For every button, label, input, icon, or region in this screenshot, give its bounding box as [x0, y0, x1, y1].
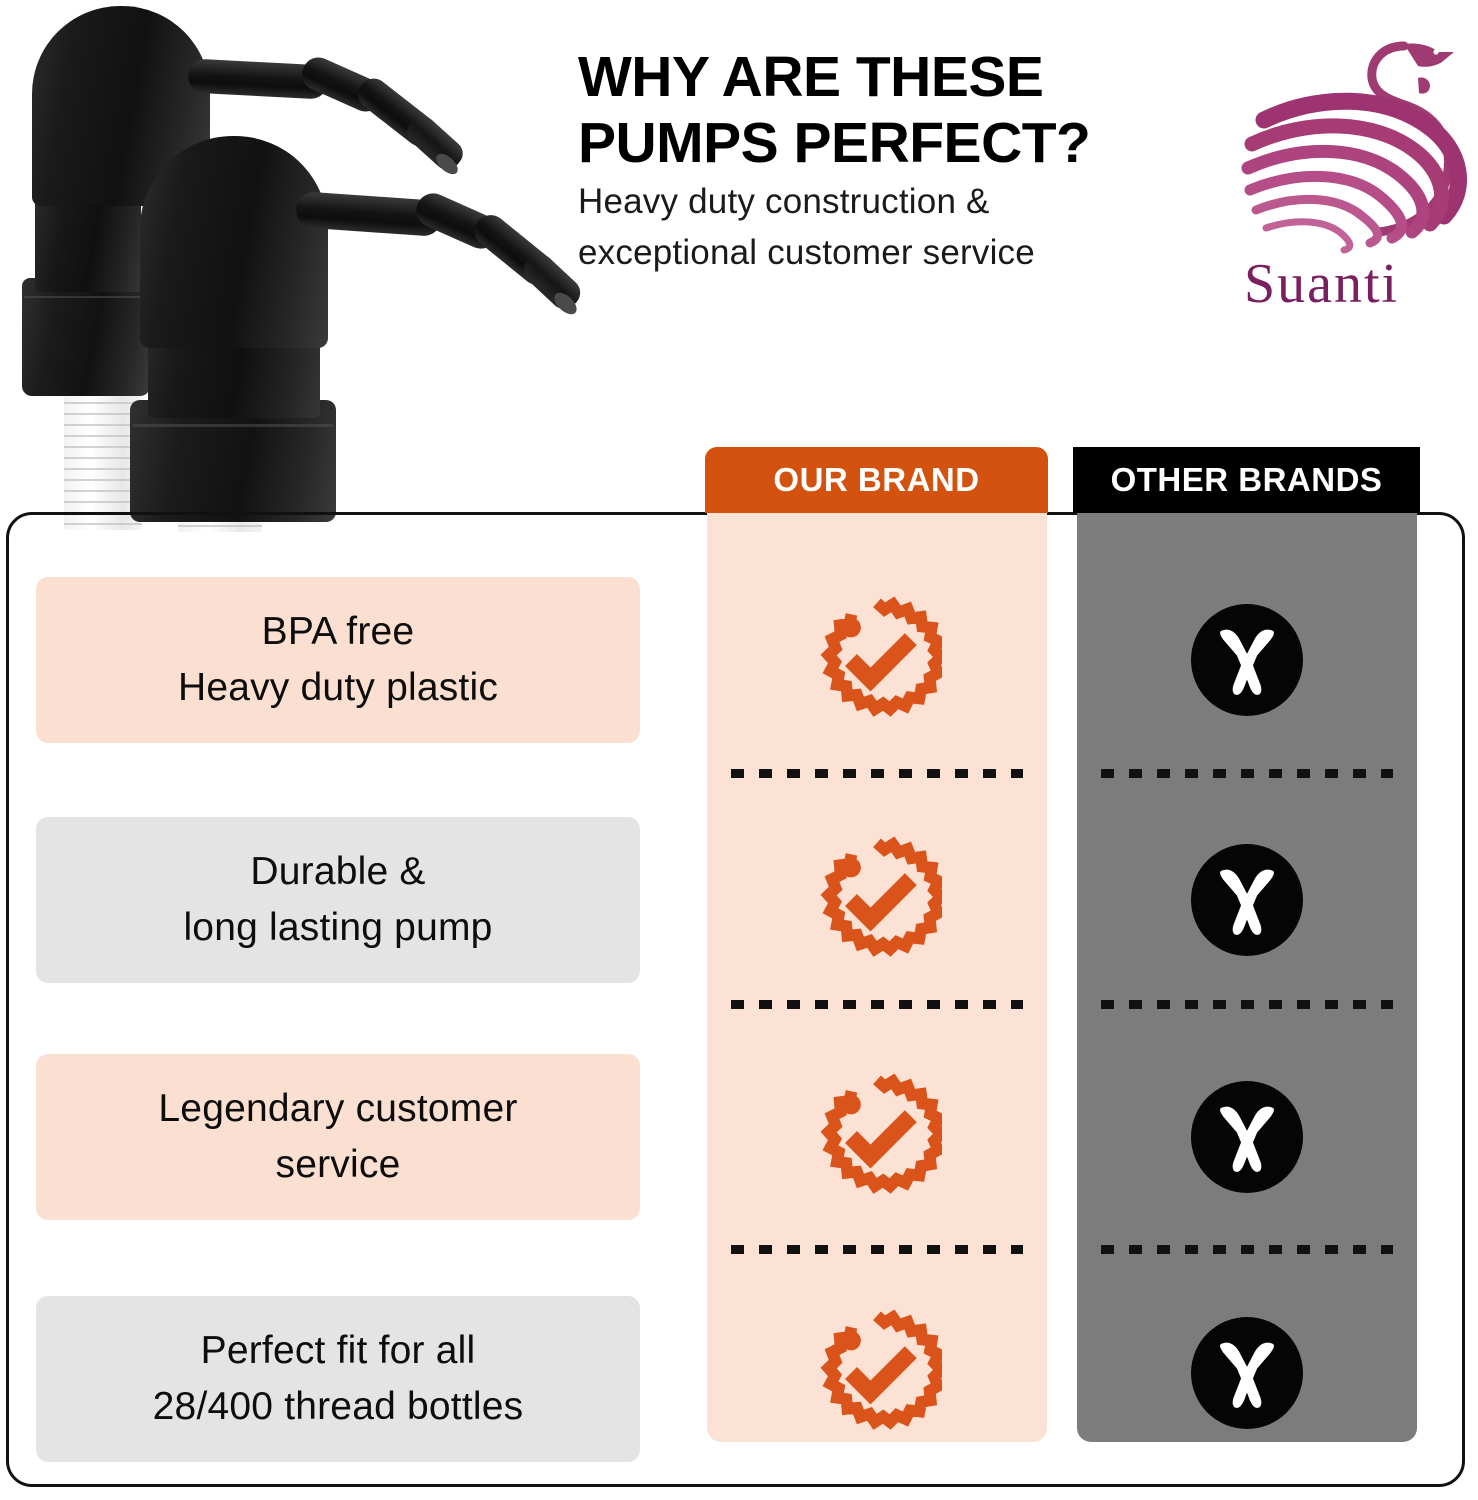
- cell-other-brands-row-1: [1077, 577, 1417, 743]
- column-header-other-brands-label: OTHER BRANDS: [1111, 461, 1383, 499]
- cross-badge-icon: [1191, 1317, 1303, 1429]
- row-separator-1-our-brand: [731, 769, 1023, 778]
- check-badge-icon: [812, 1308, 942, 1438]
- feature-pill-2-line-2: long lasting pump: [183, 900, 492, 956]
- pump-back-spout-tip: [402, 111, 468, 175]
- row-separator-1-other-brands: [1101, 769, 1393, 778]
- headline-block: WHY ARE THESE PUMPS PERFECT? Heavy duty …: [578, 44, 1238, 278]
- feature-pill-4: Perfect fit for all 28/400 thread bottle…: [36, 1296, 640, 1462]
- feature-pill-1: BPA free Heavy duty plastic: [36, 577, 640, 743]
- feature-pill-4-line-1: Perfect fit for all: [201, 1323, 476, 1379]
- product-photo-soap-pumps: [0, 0, 580, 530]
- collar-ring: [133, 424, 333, 427]
- feature-pill-3-line-2: service: [276, 1137, 401, 1193]
- feature-pill-2-line-1: Durable &: [250, 844, 425, 900]
- column-header-our-brand-label: OUR BRAND: [773, 461, 979, 499]
- cell-other-brands-row-4: [1077, 1290, 1417, 1456]
- cell-our-brand-row-4: [707, 1290, 1047, 1456]
- headline-line-1: WHY ARE THESE: [578, 44, 1238, 110]
- x-mark-icon: [1191, 1081, 1303, 1193]
- feature-pill-4-line-2: 28/400 thread bottles: [153, 1379, 524, 1435]
- collar-ring: [24, 296, 148, 298]
- subheadline-line-2: exceptional customer service: [578, 227, 1238, 278]
- pump-front-dome: [140, 136, 328, 348]
- cell-other-brands-row-2: [1077, 817, 1417, 983]
- cell-our-brand-row-1: [707, 577, 1047, 743]
- feature-pill-1-line-2: Heavy duty plastic: [178, 660, 498, 716]
- feature-pill-3-line-1: Legendary customer: [158, 1081, 517, 1137]
- cross-badge-icon: [1191, 604, 1303, 716]
- brand-logo: Suanti: [1222, 22, 1478, 314]
- logo-wordmark: Suanti: [1222, 254, 1478, 314]
- x-mark-icon: [1191, 604, 1303, 716]
- row-separator-2-our-brand: [731, 1000, 1023, 1009]
- x-mark-icon: [1191, 844, 1303, 956]
- x-mark-icon: [1191, 1317, 1303, 1429]
- check-badge-icon: [812, 595, 942, 725]
- subheadline-line-1: Heavy duty construction &: [578, 176, 1238, 227]
- row-separator-3-our-brand: [731, 1245, 1023, 1254]
- check-badge-icon: [812, 1072, 942, 1202]
- cell-our-brand-row-2: [707, 817, 1047, 983]
- headline-line-2: PUMPS PERFECT?: [578, 110, 1238, 176]
- pump-front-collar: [130, 400, 336, 522]
- feature-pill-2: Durable & long lasting pump: [36, 817, 640, 983]
- cross-badge-icon: [1191, 1081, 1303, 1193]
- row-separator-3-other-brands: [1101, 1245, 1393, 1254]
- check-badge-icon: [812, 835, 942, 965]
- column-header-other-brands: OTHER BRANDS: [1073, 447, 1420, 513]
- feature-pill-3: Legendary customer service: [36, 1054, 640, 1220]
- cross-badge-icon: [1191, 844, 1303, 956]
- feature-pill-1-line-1: BPA free: [262, 604, 415, 660]
- pump-back-body: [35, 196, 141, 292]
- cell-our-brand-row-3: [707, 1054, 1047, 1220]
- cell-other-brands-row-3: [1077, 1054, 1417, 1220]
- infographic-page: WHY ARE THESE PUMPS PERFECT? Heavy duty …: [0, 0, 1478, 1500]
- row-separator-2-other-brands: [1101, 1000, 1393, 1009]
- swan-logo-icon: [1222, 22, 1478, 262]
- column-header-our-brand: OUR BRAND: [705, 447, 1048, 513]
